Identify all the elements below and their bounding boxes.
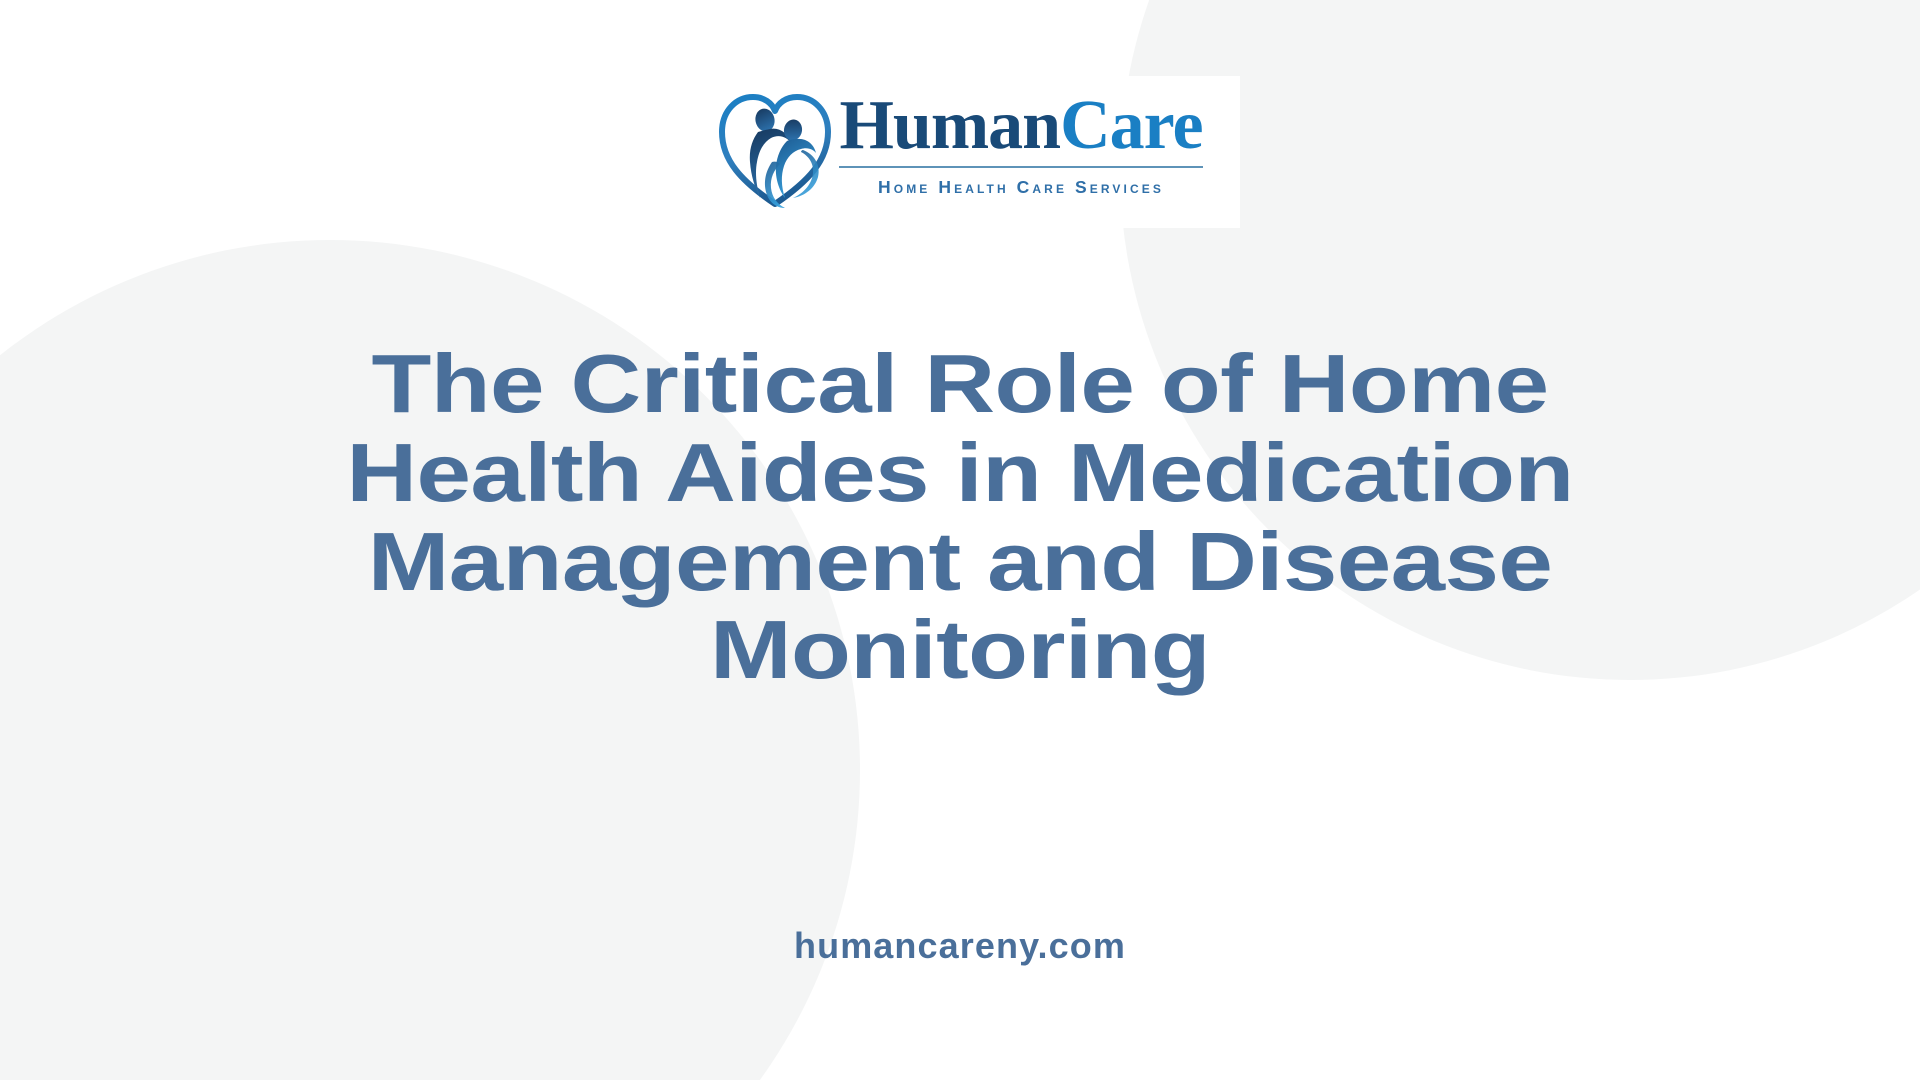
logo-wordmark: HumanCare: [839, 92, 1202, 161]
logo-wordmark-block: HumanCare Home Health Care Services: [839, 78, 1202, 198]
humancare-logo: HumanCare Home Health Care Services: [717, 78, 1202, 212]
logo-wordmark-human: Human: [839, 87, 1060, 164]
logo-divider-rule: [839, 166, 1202, 168]
logo-card: HumanCare Home Health Care Services: [680, 76, 1240, 228]
logo-wordmark-care: Care: [1060, 87, 1202, 164]
heart-with-two-figures-icon: [717, 80, 833, 212]
slide-content: HumanCare Home Health Care Services The …: [0, 0, 1920, 1080]
page-title: The Critical Role of Home Health Aides i…: [293, 340, 1626, 695]
logo-tagline: Home Health Care Services: [839, 177, 1202, 198]
presentation-slide: HumanCare Home Health Care Services The …: [0, 0, 1920, 1080]
